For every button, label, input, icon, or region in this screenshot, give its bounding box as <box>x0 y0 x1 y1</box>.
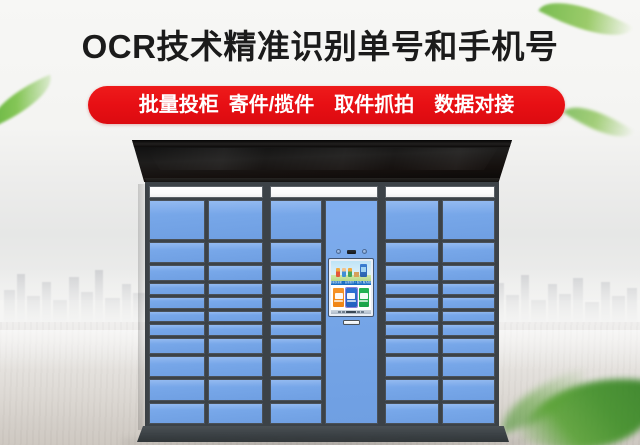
section-columns <box>385 200 495 424</box>
locker-door[interactable] <box>208 403 264 424</box>
feature-tag-send-collect: 寄件/揽件 <box>228 95 316 115</box>
locker-door[interactable] <box>149 379 205 400</box>
section-columns: 智能快递柜 · 自助寄件 / 取件 服务终端 <box>270 200 378 424</box>
locker-section-center: 智能快递柜 · 自助寄件 / 取件 服务终端 <box>268 184 380 426</box>
locker-door[interactable] <box>270 283 322 295</box>
locker-door[interactable] <box>208 265 264 281</box>
locker-door[interactable] <box>270 265 322 281</box>
locker-section-left <box>147 184 265 426</box>
locker-door[interactable] <box>208 242 264 263</box>
kiosk-sensor-row <box>328 247 374 256</box>
locker-door[interactable] <box>442 265 496 281</box>
locker-door[interactable] <box>385 242 439 263</box>
tile-label <box>347 300 356 302</box>
card-scan-slot[interactable] <box>343 320 360 325</box>
page-title: OCR技术精准识别单号和手机号 <box>0 27 640 67</box>
locker-door[interactable] <box>208 200 264 240</box>
locker-door[interactable] <box>385 265 439 281</box>
feature-tag-pickup-capture: 取件抓拍 <box>333 95 415 115</box>
locker-door[interactable] <box>270 311 322 323</box>
locker-door[interactable] <box>208 297 264 309</box>
locker-door[interactable] <box>442 297 496 309</box>
courier-icon <box>360 293 368 299</box>
locker-door[interactable] <box>149 283 205 295</box>
locker-door[interactable] <box>442 324 496 336</box>
locker-door[interactable] <box>442 242 496 263</box>
screen-action-tiles <box>331 285 371 310</box>
locker-door[interactable] <box>385 356 439 377</box>
screen-keypad-strip[interactable] <box>331 310 371 314</box>
locker-door[interactable] <box>385 379 439 400</box>
canopy-highlight <box>146 148 498 170</box>
camera-lens-icon-right <box>362 249 367 254</box>
illustration-person <box>342 268 346 277</box>
locker-door[interactable] <box>149 338 205 354</box>
locker-door[interactable] <box>270 200 322 240</box>
feature-tag-data-sync: 数据对接 <box>433 95 515 115</box>
locker-door[interactable] <box>442 283 496 295</box>
locker-door[interactable] <box>208 283 264 295</box>
kiosk-panel: 智能快递柜 · 自助寄件 / 取件 服务终端 <box>325 200 379 424</box>
locker-door[interactable] <box>385 324 439 336</box>
screen-caption-bar: 智能快递柜 · 自助寄件 / 取件 服务终端 <box>331 281 371 285</box>
locker-door[interactable] <box>385 297 439 309</box>
feature-tag-banner: 批量投柜 寄件/揽件 取件抓拍 数据对接 <box>88 86 565 124</box>
keypad-spacebar[interactable] <box>346 311 356 313</box>
canopy-top-edge <box>132 140 512 147</box>
illustration-locker-screen <box>361 267 366 272</box>
locker-body: 智能快递柜 · 自助寄件 / 取件 服务终端 <box>145 182 499 428</box>
tile-label <box>359 300 368 302</box>
smart-parcel-locker: 智能快递柜 · 自助寄件 / 取件 服务终端 <box>132 140 512 432</box>
section-header-strip <box>385 186 495 198</box>
locker-door[interactable] <box>385 283 439 295</box>
screen-caption-text: 智能快递柜 · 自助寄件 / 取件 服务终端 <box>331 281 371 285</box>
barcode-scanner-icon <box>347 250 356 254</box>
section-header-strip <box>149 186 263 198</box>
keypad-key[interactable] <box>357 311 360 313</box>
locker-door[interactable] <box>208 338 264 354</box>
feature-tag-batch-deposit: 批量投柜 <box>138 95 220 115</box>
locker-door[interactable] <box>270 356 322 377</box>
camera-lens-icon-left <box>336 249 341 254</box>
kiosk-screen[interactable]: 智能快递柜 · 自助寄件 / 取件 服务终端 <box>331 261 371 314</box>
locker-door[interactable] <box>270 403 322 424</box>
locker-door[interactable] <box>149 242 205 263</box>
locker-column <box>270 200 322 424</box>
locker-door[interactable] <box>442 403 496 424</box>
locker-column <box>208 200 264 424</box>
tile-label <box>334 300 343 302</box>
locker-door[interactable] <box>270 338 322 354</box>
locker-door[interactable] <box>385 338 439 354</box>
illustration-parcel <box>354 272 359 277</box>
illustration-person <box>336 268 340 277</box>
locker-door[interactable] <box>208 379 264 400</box>
locker-door[interactable] <box>208 356 264 377</box>
locker-door[interactable] <box>149 200 205 240</box>
locker-door[interactable] <box>442 356 496 377</box>
locker-door[interactable] <box>149 324 205 336</box>
locker-section-right <box>383 184 497 426</box>
locker-door[interactable] <box>442 311 496 323</box>
locker-canopy <box>132 140 512 182</box>
section-columns <box>149 200 263 424</box>
keypad-key[interactable] <box>361 311 364 313</box>
locker-door[interactable] <box>442 338 496 354</box>
section-header-strip <box>270 186 378 198</box>
locker-door[interactable] <box>270 379 322 400</box>
locker-door[interactable] <box>442 379 496 400</box>
locker-door[interactable] <box>270 324 322 336</box>
locker-column <box>149 200 205 424</box>
pickup-parcel-tile[interactable] <box>346 288 357 307</box>
courier-tile[interactable] <box>359 288 370 307</box>
locker-door[interactable] <box>149 403 205 424</box>
locker-ground-shadow <box>122 438 526 445</box>
keypad-key[interactable] <box>342 311 345 313</box>
locker-door[interactable] <box>208 311 264 323</box>
pickup-icon <box>347 293 355 299</box>
screen-banner-illustration <box>331 261 371 281</box>
locker-door[interactable] <box>149 311 205 323</box>
locker-door[interactable] <box>270 297 322 309</box>
locker-door[interactable] <box>149 356 205 377</box>
kiosk-screen-frame: 智能快递柜 · 自助寄件 / 取件 服务终端 <box>328 258 374 317</box>
promo-poster: OCR技术精准识别单号和手机号 批量投柜 寄件/揽件 取件抓拍 数据对接 <box>0 0 640 445</box>
locker-door[interactable] <box>149 265 205 281</box>
send-parcel-tile[interactable] <box>333 288 344 307</box>
locker-column <box>385 200 439 424</box>
locker-door[interactable] <box>270 242 322 263</box>
locker-door[interactable] <box>385 403 439 424</box>
parcel-icon <box>335 293 343 299</box>
locker-column <box>442 200 496 424</box>
locker-door[interactable] <box>149 297 205 309</box>
locker-door[interactable] <box>208 324 264 336</box>
keypad-key[interactable] <box>338 311 341 313</box>
locker-door[interactable] <box>385 200 439 240</box>
locker-control-terminal: 智能快递柜 · 自助寄件 / 取件 服务终端 <box>328 247 374 325</box>
locker-door[interactable] <box>385 311 439 323</box>
locker-door[interactable] <box>442 200 496 240</box>
illustration-person <box>348 268 352 277</box>
